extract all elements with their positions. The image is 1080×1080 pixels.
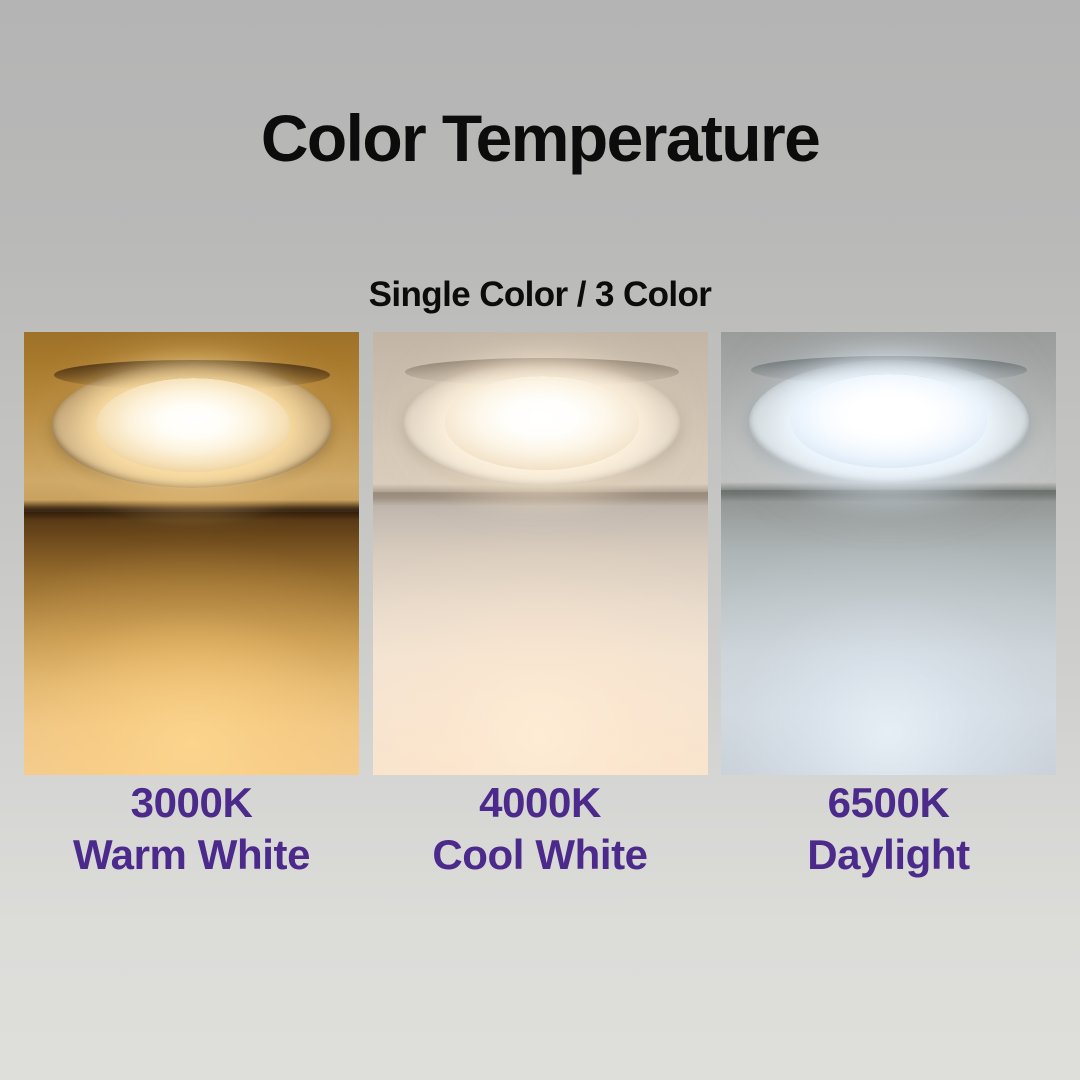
caption-row: 3000K Warm White 4000K Cool White 6500K … (24, 778, 1056, 881)
caption-kelvin: 6500K (721, 778, 1056, 828)
wall-light-glow (373, 492, 708, 775)
caption-name: Cool White (373, 828, 708, 882)
panel-cool-white (373, 332, 708, 775)
page-subtitle: Single Color / 3 Color (0, 275, 1080, 315)
page-subtitle-container: Single Color / 3 Color (0, 275, 1080, 315)
caption-kelvin: 4000K (373, 778, 708, 828)
downlight-bezel (52, 364, 332, 488)
caption-warm-white: 3000K Warm White (24, 778, 359, 881)
ceiling-wall-junction-shadow (373, 484, 708, 506)
wall-light-glow (721, 490, 1056, 775)
caption-daylight: 6500K Daylight (721, 778, 1056, 881)
downlight-bezel (749, 360, 1029, 484)
caption-name: Daylight (721, 828, 1056, 882)
caption-name: Warm White (24, 828, 359, 882)
panel-daylight (721, 332, 1056, 775)
panel-warm-white (24, 332, 359, 775)
ceiling-wall-junction-shadow (24, 500, 359, 520)
caption-kelvin: 3000K (24, 778, 359, 828)
downlight-bezel (403, 362, 681, 486)
page-title: Color Temperature (0, 104, 1080, 173)
caption-cool-white: 4000K Cool White (373, 778, 708, 881)
downlight-lens (445, 376, 639, 470)
page-title-container: Color Temperature (0, 104, 1080, 173)
downlight-lens (96, 378, 290, 472)
ceiling-wall-junction-shadow (721, 482, 1056, 502)
color-temperature-gallery (24, 332, 1056, 775)
downlight-lens (791, 374, 987, 468)
wall-light-glow (24, 512, 359, 775)
